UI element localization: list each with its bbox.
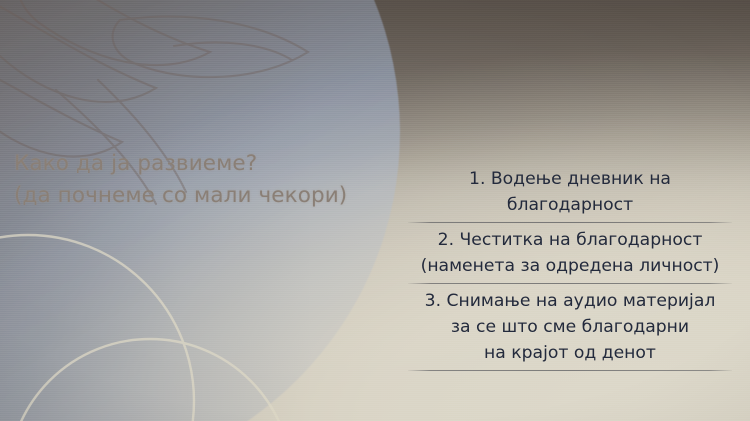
list-divider <box>408 222 732 223</box>
presentation-slide: Како да ја развиеме? (да почнеме со мали… <box>0 0 750 421</box>
list-item: 3. Снимање на аудио материјал за се што … <box>400 286 740 369</box>
list-item-line: за се што сме благодарни <box>400 314 740 340</box>
list-item-line: 2. Честитка на благодарност <box>400 227 740 253</box>
slide-title-line-2: (да почнеме со мали чекори) <box>14 183 347 208</box>
list-item-line: 1. Водење дневник на <box>400 166 740 192</box>
circle-decoration-icon <box>0 215 370 421</box>
slide-content-list: 1. Водење дневник на благодарност 2. Чес… <box>400 164 740 373</box>
list-item: 2. Честитка на благодарност (наменета за… <box>400 225 740 282</box>
list-divider <box>408 283 732 284</box>
list-item-line: на крајот од денот <box>400 340 740 366</box>
list-item-line: (наменета за одредена личност) <box>400 253 740 279</box>
list-item-line: 3. Снимање на аудио материјал <box>400 288 740 314</box>
slide-title: Како да ја развиеме? (да почнеме со мали… <box>14 148 414 212</box>
list-item-line: благодарност <box>400 192 740 218</box>
list-divider <box>408 370 732 371</box>
slide-title-line-1: Како да ја развиеме? <box>14 151 257 176</box>
list-item: 1. Водење дневник на благодарност <box>400 164 740 221</box>
